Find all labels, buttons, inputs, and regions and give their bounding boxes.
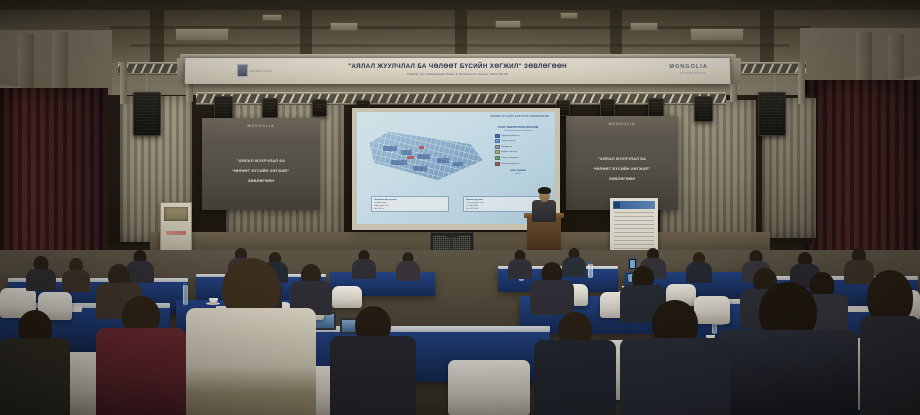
conference-hall-photo: ЗАСГИЙН ГАЗАР "АЯЛАЛ ЖУУЛЧЛАЛ БА ЧӨЛӨӨТ … <box>0 0 920 415</box>
loudspeaker <box>648 98 664 118</box>
legend-swatch <box>495 150 500 154</box>
loudspeaker <box>758 92 786 136</box>
legend-label: Ногоон байгууламж <box>502 157 519 159</box>
projection-screen: ЧӨЛӨӨТ БҮСИЙН ЕРӨНХИЙ ТӨЛӨВЛӨГӨӨ ГАЗАР А… <box>357 112 555 224</box>
attendee <box>62 258 90 290</box>
slide-box-left-row: Нийт 900 га <box>374 208 446 210</box>
attendee-body <box>396 261 420 281</box>
legend-label: Оршин суух бүс <box>502 140 516 142</box>
attendee-body <box>0 338 70 415</box>
legend-subtitle: Газар ашиглалтын төлөвлөлт <box>487 130 549 132</box>
legend-label: Үйлдвэрлэл <box>502 146 512 148</box>
attendee <box>508 250 532 278</box>
legend-footer: НИЙТ ТАЛБАЙ <box>487 170 549 172</box>
attendee <box>530 262 574 312</box>
site-plan-grid <box>367 128 485 190</box>
presenter-body <box>532 200 556 222</box>
ceiling-light-panel <box>560 12 578 19</box>
right-banner-line3: ЗӨВЛӨГӨӨН <box>570 176 674 182</box>
attendee <box>396 252 420 280</box>
chair <box>332 286 362 308</box>
right-banner-logo: MONGOLIA <box>609 122 636 126</box>
banner-logo-subtitle: TOURISM BOARD <box>679 72 706 75</box>
banner-subtitle: Holiday Inn Ulaanbaatar Hotel & Conferen… <box>185 72 730 76</box>
right-banner-line1: "АЯЛАЛ ЖУУЛЧЛАЛ БА <box>570 156 674 162</box>
ceiling-light-panel <box>690 28 744 41</box>
attendee-body <box>860 316 920 415</box>
attendee-body <box>96 328 186 415</box>
left-banner-line1: "АЯЛАЛ ЖУУЛЧЛАЛ БА <box>206 158 316 164</box>
ceiling-light-panel <box>262 14 282 21</box>
attendee <box>718 282 858 415</box>
ceiling-light-panel <box>330 22 358 31</box>
legend-swatch <box>495 139 500 143</box>
ceiling-light-panel <box>495 20 521 28</box>
legend-swatch <box>495 156 500 160</box>
attendee-body <box>620 338 730 415</box>
loudspeaker <box>600 99 615 117</box>
slide-box-left-row: Барилгажилт 35% <box>374 205 446 207</box>
main-banner: ЗАСГИЙН ГАЗАР "АЯЛАЛ ЖУУЛЧЛАЛ БА ЧӨЛӨӨТ … <box>185 58 730 84</box>
attendee <box>620 300 730 415</box>
attendee <box>860 270 920 415</box>
banner-title: "АЯЛАЛ ЖУУЛЧЛАЛ БА ЧӨЛӨӨТ БҮСИЙН ХӨГЖИЛ"… <box>185 63 730 70</box>
left-banner-logo: MONGOLIA <box>248 124 275 128</box>
loudspeaker <box>312 99 327 117</box>
slide-legend: ГАЗАР АШИГЛАЛТЫН БҮСЧЛЭЛ Газар ашиглалты… <box>487 126 549 182</box>
attendee <box>186 258 316 415</box>
banner-logo: MONGOLIA <box>669 64 708 70</box>
attendee-body <box>186 308 316 415</box>
attendee-body <box>530 280 574 315</box>
right-banner-line2: ЧӨЛӨӨТ БҮСИЙН ХӨГЖИЛ" <box>570 166 674 172</box>
legend-title: ГАЗАР АШИГЛАЛТЫН БҮСЧЛЭЛ <box>487 126 549 129</box>
attendee <box>534 312 616 415</box>
ceiling <box>0 0 920 62</box>
legend-label: Худалдаа үйлчилгээ <box>502 135 520 137</box>
slide-box-left-header: Төлөвлөлтийн үзүүлэлт <box>374 199 446 201</box>
attendee <box>352 250 376 278</box>
ac-control-panel <box>166 231 186 235</box>
loudspeaker <box>133 92 161 136</box>
legend-swatch <box>495 145 500 149</box>
attendee-body <box>686 262 712 283</box>
attendee-body <box>330 336 416 415</box>
left-banner-line3: ЗӨВЛӨГӨӨН <box>206 178 316 184</box>
ceiling-light-panel <box>630 22 658 31</box>
attendee-body <box>534 340 616 415</box>
right-stage-banner: MONGOLIA "АЯЛАЛ ЖУУЛЧЛАЛ БА ЧӨЛӨӨТ БҮСИЙ… <box>566 116 678 210</box>
slide-box-left-row: Талбай га хувь <box>374 202 446 204</box>
flipchart-emblem-icon <box>614 202 620 208</box>
ac-vent-icon <box>164 207 188 221</box>
attendee-body <box>26 269 56 291</box>
water-bottle <box>588 264 593 278</box>
attendee-body <box>508 259 532 279</box>
site-plan-highlight <box>407 156 414 159</box>
site-plan-highlight <box>419 146 424 149</box>
slide-header: ЧӨЛӨӨТ БҮСИЙН ЕРӨНХИЙ ТӨЛӨВЛӨГӨӨ <box>490 115 549 118</box>
chair <box>448 360 530 415</box>
left-banner-line2: ЧӨЛӨӨТ БҮСИЙН ХӨГЖИЛ" <box>206 168 316 174</box>
legend-swatch <box>495 134 500 138</box>
loudspeaker <box>262 98 278 118</box>
attendee-body <box>718 330 858 415</box>
attendee-body <box>352 259 376 279</box>
attendee <box>330 306 416 415</box>
legend-label: Агуулах, логистик <box>502 151 518 153</box>
legend-label: Авто зам, дэд бүтэц <box>502 163 520 165</box>
legend-swatch <box>495 162 500 166</box>
attendee <box>686 252 712 282</box>
legend-footer-value: 900 га <box>487 173 549 175</box>
attendee <box>0 310 70 415</box>
attendee <box>96 296 186 415</box>
left-stage-banner: MONGOLIA "АЯЛАЛ ЖУУЛЧЛАЛ БА ЧӨЛӨӨТ БҮСИЙ… <box>202 118 320 210</box>
slide-box-left: Төлөвлөлтийн үзүүлэлт Талбай га хувь Бар… <box>371 196 449 212</box>
ceiling-light-panel <box>175 28 229 41</box>
presenter-hair <box>538 187 551 194</box>
loudspeaker <box>694 96 713 122</box>
attendee <box>26 256 56 290</box>
attendee-body <box>62 270 90 292</box>
